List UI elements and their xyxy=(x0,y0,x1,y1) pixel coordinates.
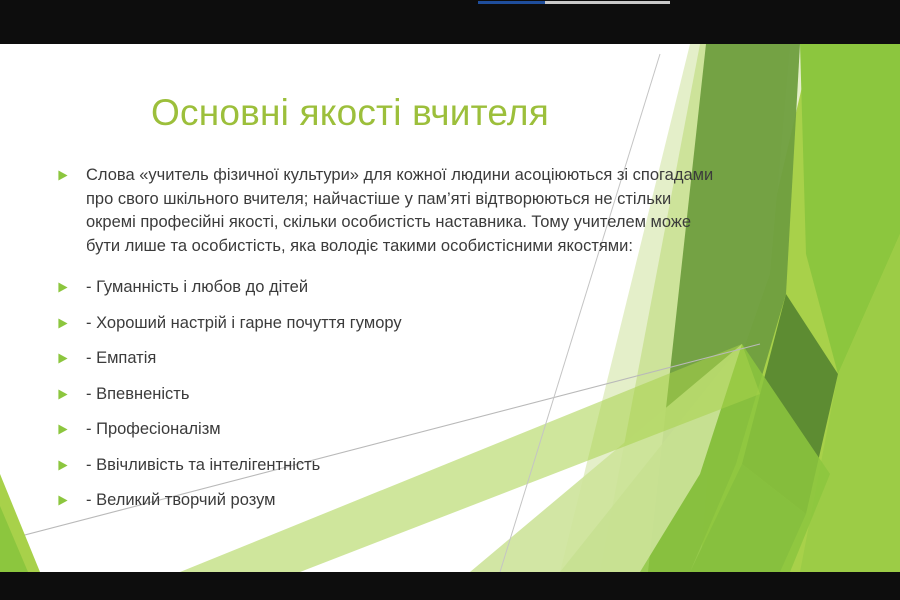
list-item: - Професіоналізм xyxy=(56,418,716,442)
slide-canvas[interactable]: Основні якості вчителя Слова «учитель фі… xyxy=(0,44,900,572)
slide-progress-fill xyxy=(478,1,545,4)
triangle-right-icon xyxy=(56,353,70,364)
slide-progress-track[interactable] xyxy=(478,1,670,4)
slide-title: Основні якості вчителя xyxy=(0,92,700,134)
list-item-label: - Великий творчий розум xyxy=(86,489,716,513)
list-item-label: - Професіоналізм xyxy=(86,418,716,442)
list-item-label: - Гуманність і любов до дітей xyxy=(86,276,716,300)
triangle-right-icon xyxy=(56,424,70,435)
list-item: - Ввічливість та інтелігентність xyxy=(56,454,716,478)
list-item: Слова «учитель фізичної культури» для ко… xyxy=(56,164,716,258)
list-item-label: - Емпатія xyxy=(86,347,716,371)
triangle-right-icon xyxy=(56,282,70,293)
list-item-label: - Ввічливість та інтелігентність xyxy=(86,454,716,478)
list-item: - Хороший настрій і гарне почуття гумору xyxy=(56,312,716,336)
list-item: - Впевненість xyxy=(56,383,716,407)
list-item-label: Слова «учитель фізичної культури» для ко… xyxy=(86,164,716,258)
triangle-right-icon xyxy=(56,318,70,329)
list-item: - Емпатія xyxy=(56,347,716,371)
triangle-right-icon xyxy=(56,170,70,181)
slide-body: Слова «учитель фізичної культури» для ко… xyxy=(56,164,716,525)
presentation-viewer: Основні якості вчителя Слова «учитель фі… xyxy=(0,0,900,600)
list-item: - Гуманність і любов до дітей xyxy=(56,276,716,300)
triangle-right-icon xyxy=(56,389,70,400)
list-item: - Великий творчий розум xyxy=(56,489,716,513)
triangle-right-icon xyxy=(56,495,70,506)
triangle-right-icon xyxy=(56,460,70,471)
list-item-label: - Хороший настрій і гарне почуття гумору xyxy=(86,312,716,336)
list-item-label: - Впевненість xyxy=(86,383,716,407)
